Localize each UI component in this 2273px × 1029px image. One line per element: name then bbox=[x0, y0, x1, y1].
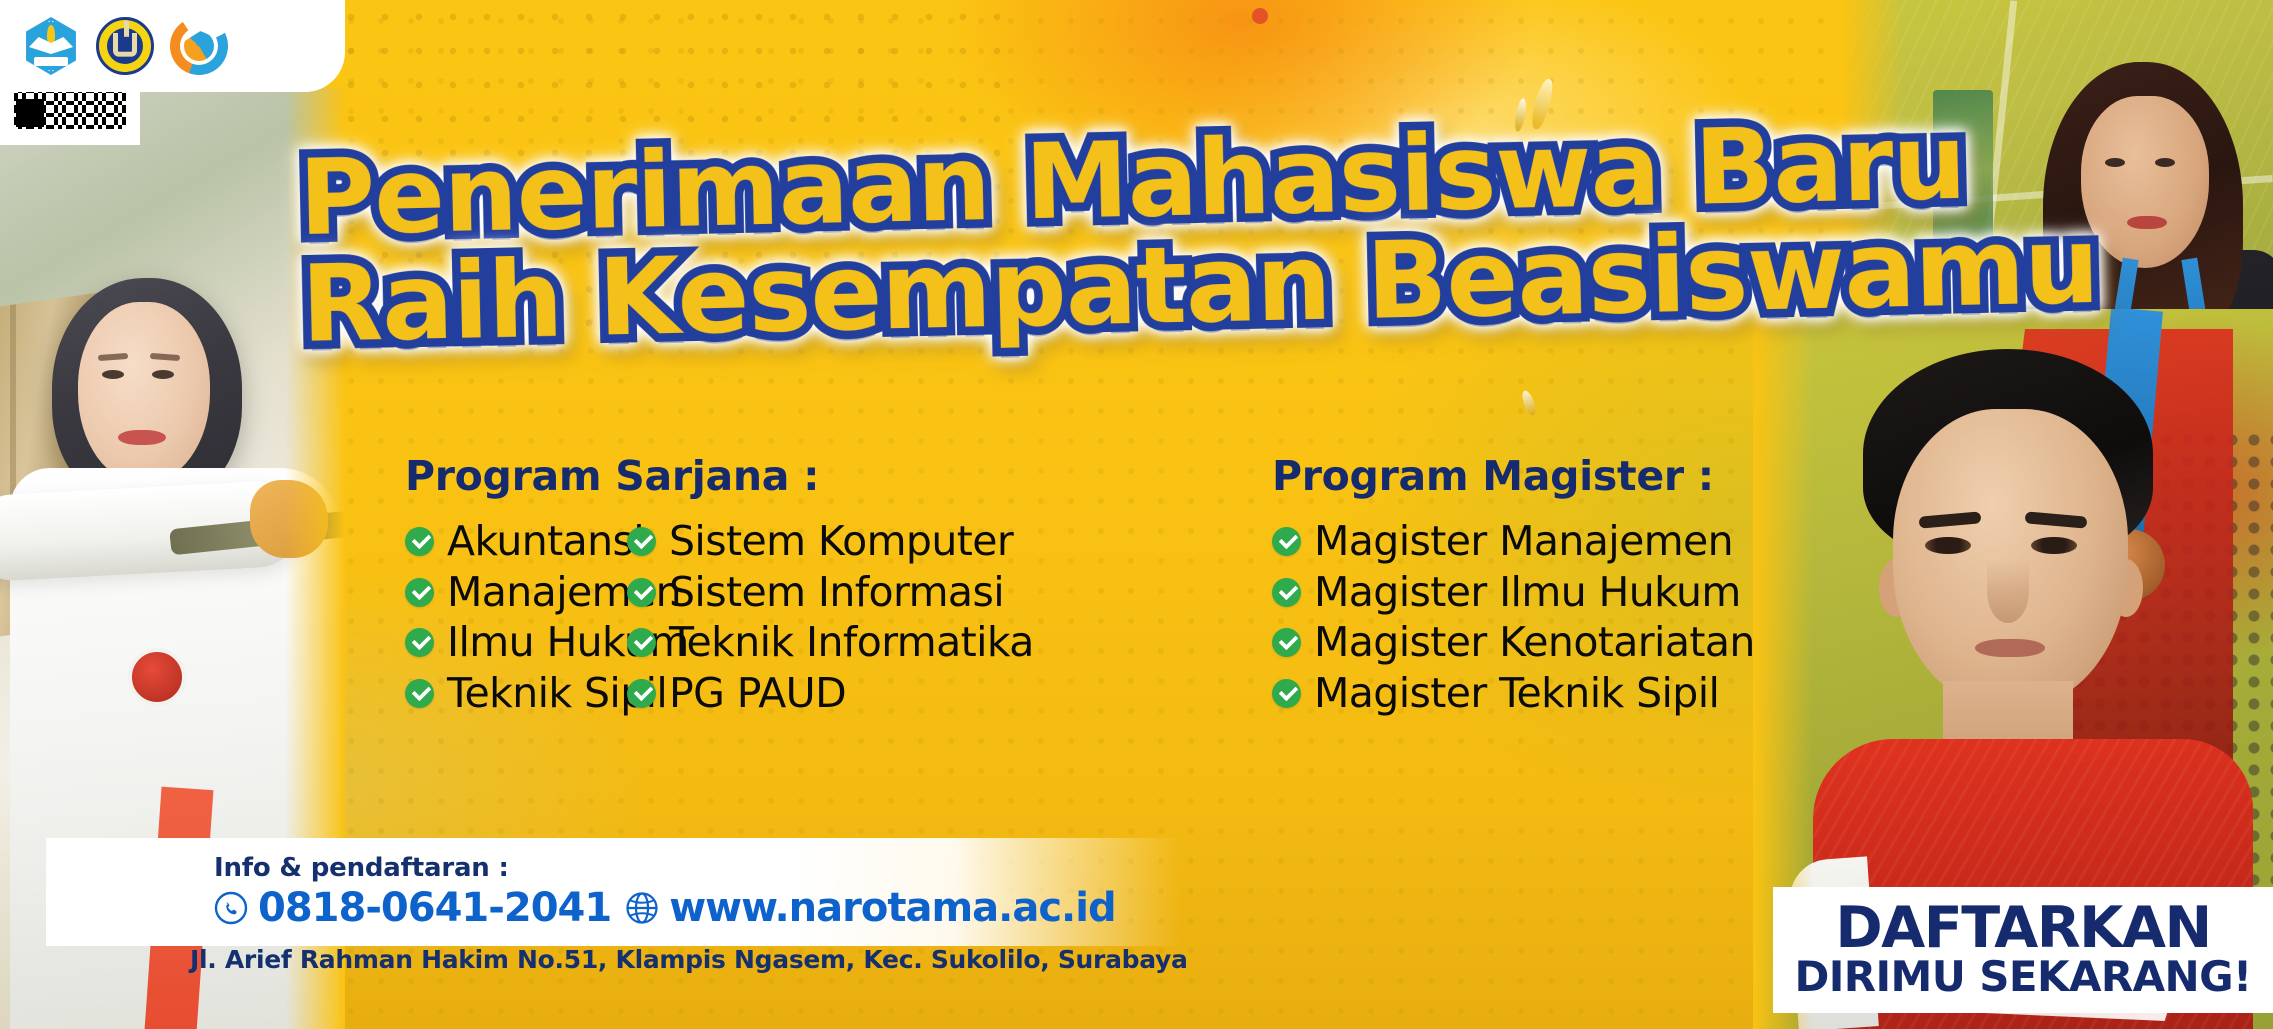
campus-address: Jl. Arief Rahman Hakim No.51, Klampis Ng… bbox=[190, 945, 1188, 974]
program-sarjana-sublist-b: Sistem Komputer Sistem Informasi Teknik … bbox=[627, 518, 1047, 717]
check-icon bbox=[627, 578, 656, 607]
check-icon bbox=[627, 628, 656, 657]
phone-contact[interactable]: 0818-0641-2041 bbox=[214, 885, 611, 931]
check-icon bbox=[405, 527, 434, 556]
headline-line-2: Raih Kesempatan Beasiswamu bbox=[300, 216, 1962, 358]
confetti-fleck bbox=[1520, 389, 1538, 417]
contact-label: Info & pendaftaran : bbox=[214, 853, 1116, 883]
program-sarjana-column: Program Sarjana : Akuntansi Manajemen Il… bbox=[405, 452, 1235, 717]
program-item: Sistem Komputer bbox=[627, 518, 1047, 566]
check-icon bbox=[1272, 527, 1301, 556]
address-bar: Jl. Arief Rahman Hakim No.51, Klampis Ng… bbox=[190, 938, 1090, 980]
program-magister-title: Program Magister : bbox=[1272, 452, 1972, 500]
check-icon bbox=[627, 679, 656, 708]
program-item: Sistem Informasi bbox=[627, 569, 1047, 617]
check-icon bbox=[405, 679, 434, 708]
program-item: Akuntansi bbox=[405, 518, 627, 566]
whatsapp-icon bbox=[214, 891, 248, 925]
contact-card: Info & pendaftaran : 0818-0641-2041 bbox=[46, 838, 1181, 946]
program-lists: Program Sarjana : Akuntansi Manajemen Il… bbox=[0, 452, 2273, 792]
program-item: Magister Teknik Sipil bbox=[1272, 670, 1972, 718]
program-item: Magister Manajemen bbox=[1272, 518, 1972, 566]
globe-icon bbox=[625, 891, 659, 925]
program-label: Sistem Komputer bbox=[669, 518, 1013, 566]
program-magister-list: Magister Manajemen Magister Ilmu Hukum M… bbox=[1272, 518, 1972, 717]
tut-wuri-handayani-logo bbox=[22, 17, 80, 75]
website-url: www.narotama.ac.id bbox=[669, 885, 1115, 931]
program-label: PG PAUD bbox=[669, 670, 846, 718]
program-label: Sistem Informasi bbox=[669, 569, 1004, 617]
cta-line-2: DIRIMU SEKARANG! bbox=[1795, 956, 2252, 999]
program-item: Manajemen bbox=[405, 569, 627, 617]
program-item: Magister Kenotariatan bbox=[1272, 619, 1972, 667]
program-item: Magister Ilmu Hukum bbox=[1272, 569, 1972, 617]
program-sarjana-sublist-a: Akuntansi Manajemen Ilmu Hukum Teknik Si… bbox=[405, 518, 627, 717]
confetti-fleck bbox=[1252, 8, 1268, 24]
check-icon bbox=[1272, 578, 1301, 607]
phone-number: 0818-0641-2041 bbox=[258, 885, 611, 931]
check-icon bbox=[1272, 628, 1301, 657]
cta-line-1: DAFTARKAN bbox=[1835, 901, 2210, 956]
diktisaintek-berdampak-logo bbox=[170, 17, 228, 75]
check-icon bbox=[405, 628, 434, 657]
check-icon bbox=[627, 527, 656, 556]
cta-banner[interactable]: DAFTARKAN DIRIMU SEKARANG! bbox=[1773, 887, 2273, 1013]
program-magister-column: Program Magister : Magister Manajemen Ma… bbox=[1272, 452, 1972, 717]
program-item: Teknik Sipil bbox=[405, 670, 627, 718]
website-contact[interactable]: www.narotama.ac.id bbox=[625, 885, 1115, 931]
institution-logo-panel bbox=[0, 0, 345, 92]
program-item: Teknik Informatika bbox=[627, 619, 1047, 667]
program-label: Magister Teknik Sipil bbox=[1314, 670, 1719, 718]
universitas-narotama-logo bbox=[96, 17, 154, 75]
check-icon bbox=[1272, 679, 1301, 708]
admission-banner: Penerimaan Mahasiswa Baru Raih Kesempata… bbox=[0, 0, 2273, 1029]
headline: Penerimaan Mahasiswa Baru Raih Kesempata… bbox=[298, 110, 1962, 360]
program-item: PG PAUD bbox=[627, 670, 1047, 718]
program-label: Magister Kenotariatan bbox=[1314, 619, 1755, 667]
program-label: Magister Manajemen bbox=[1314, 518, 1733, 566]
program-label: Teknik Informatika bbox=[669, 619, 1034, 667]
program-item: Ilmu Hukum bbox=[405, 619, 627, 667]
program-label: Akuntansi bbox=[447, 518, 644, 566]
program-sarjana-title: Program Sarjana : bbox=[405, 452, 1235, 500]
check-icon bbox=[405, 578, 434, 607]
program-label: Magister Ilmu Hukum bbox=[1314, 569, 1741, 617]
